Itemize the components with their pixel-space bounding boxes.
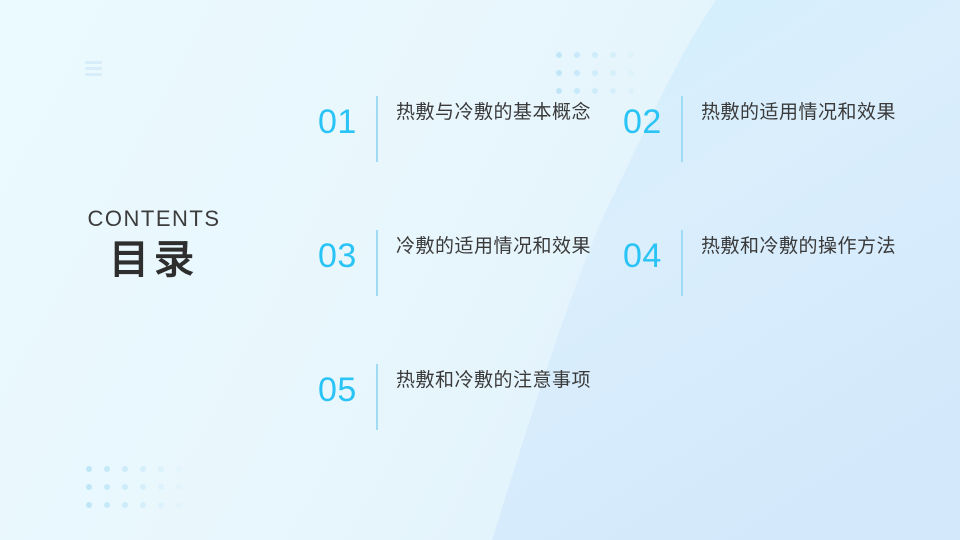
- item-number: 03: [318, 230, 376, 273]
- dot: [104, 466, 110, 472]
- dot: [104, 484, 110, 490]
- item-divider: [376, 230, 378, 296]
- dot: [140, 502, 146, 508]
- dot: [122, 466, 128, 472]
- dot: [610, 52, 616, 58]
- dot: [176, 466, 182, 472]
- contents-label-en: CONTENTS: [40, 206, 268, 231]
- contents-label-cn: 目录: [40, 235, 268, 285]
- dot: [104, 502, 110, 508]
- hamburger-menu-icon[interactable]: [85, 61, 102, 76]
- item-divider: [376, 96, 378, 162]
- dot: [556, 52, 562, 58]
- dot: [140, 466, 146, 472]
- dot-grid-bottom: [86, 466, 182, 508]
- dot: [122, 484, 128, 490]
- dot: [140, 484, 146, 490]
- item-number: 02: [623, 96, 681, 139]
- hamburger-line: [85, 61, 102, 64]
- dot: [628, 88, 634, 94]
- item-divider: [376, 364, 378, 430]
- dot: [176, 502, 182, 508]
- dot-grid-top: [556, 52, 634, 94]
- dot: [592, 52, 598, 58]
- dot: [610, 70, 616, 76]
- item-number: 04: [623, 230, 681, 273]
- dot: [592, 70, 598, 76]
- dot: [158, 484, 164, 490]
- contents-list: 01 热敷与冷敷的基本概念 02 热敷的适用情况和效果 03 冷敷的适用情况和效…: [318, 96, 928, 498]
- item-title: 热敷与冷敷的基本概念: [396, 96, 591, 130]
- dot: [122, 502, 128, 508]
- dot: [176, 484, 182, 490]
- hamburger-line: [85, 67, 102, 70]
- dot: [86, 484, 92, 490]
- contents-item-02[interactable]: 02 热敷的适用情况和效果: [623, 96, 928, 230]
- dot: [628, 52, 634, 58]
- item-number: 01: [318, 96, 376, 139]
- dot: [610, 88, 616, 94]
- item-title: 热敷和冷敷的注意事项: [396, 364, 591, 398]
- dot: [158, 466, 164, 472]
- dot: [86, 466, 92, 472]
- dot: [556, 88, 562, 94]
- contents-item-01[interactable]: 01 热敷与冷敷的基本概念: [318, 96, 623, 230]
- dot: [556, 70, 562, 76]
- dot: [86, 502, 92, 508]
- dot: [628, 70, 634, 76]
- contents-item-05[interactable]: 05 热敷和冷敷的注意事项: [318, 364, 623, 498]
- contents-slide: CONTENTS 目录 01 热敷与冷敷的基本概念 02 热敷的适用情况和效果 …: [0, 0, 960, 540]
- item-title: 热敷和冷敷的操作方法: [701, 230, 896, 264]
- dot: [574, 52, 580, 58]
- page-title: CONTENTS 目录: [40, 206, 268, 285]
- hamburger-line: [85, 73, 102, 76]
- contents-item-03[interactable]: 03 冷敷的适用情况和效果: [318, 230, 623, 364]
- contents-item-04[interactable]: 04 热敷和冷敷的操作方法: [623, 230, 928, 364]
- item-number: 05: [318, 364, 376, 407]
- item-divider: [681, 96, 683, 162]
- item-title: 冷敷的适用情况和效果: [396, 230, 591, 264]
- dot: [574, 70, 580, 76]
- dot: [592, 88, 598, 94]
- dot: [574, 88, 580, 94]
- dot: [158, 502, 164, 508]
- item-divider: [681, 230, 683, 296]
- item-title: 热敷的适用情况和效果: [701, 96, 896, 130]
